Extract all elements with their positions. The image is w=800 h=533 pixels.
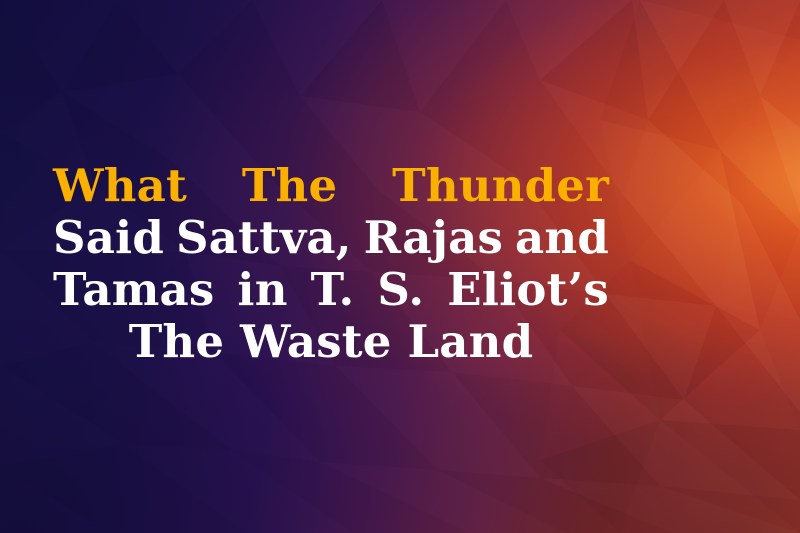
title-word: Rajas (364, 212, 503, 264)
title-banner: What The Thunder Said Sattva, Rajas and … (0, 0, 800, 533)
title-line-2: Said Sattva, Rajas and (53, 212, 609, 264)
title-word: Sattva, (176, 212, 352, 264)
title-line-1: What The Thunder (53, 160, 609, 212)
title-word: What (53, 160, 187, 212)
title-line-4: The Waste Land (53, 316, 609, 368)
title-word: Thunder (392, 160, 609, 212)
title-line-3: Tamas in T. S. Eliot’s (53, 264, 609, 316)
title-word: Eliot’s (447, 264, 609, 316)
title-word: The (242, 160, 337, 212)
article-title: What The Thunder Said Sattva, Rajas and … (53, 160, 609, 368)
title-word: Said (53, 212, 164, 264)
title-word: and (515, 212, 609, 264)
title-word: Tamas (53, 264, 214, 316)
title-word: in (237, 264, 287, 316)
title-word: S. (377, 264, 424, 316)
title-word: T. (311, 264, 355, 316)
